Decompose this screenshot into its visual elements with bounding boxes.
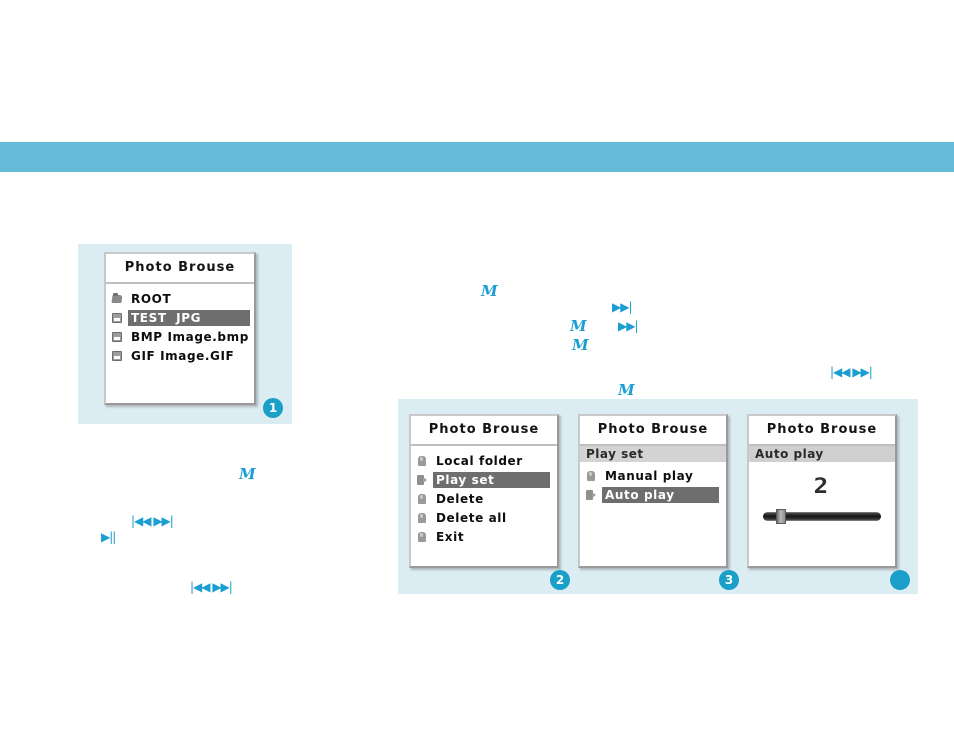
section-header: Play set <box>580 446 726 462</box>
screen-title: Photo Brouse <box>106 254 254 284</box>
prevnext-icon: |◀◀ ▶▶| <box>830 366 872 378</box>
menu-item-delete[interactable]: Delete <box>411 489 557 508</box>
menu-m-icon: M <box>239 467 256 482</box>
list-item-label: TEST JPG <box>128 310 250 326</box>
menu-item-label: Manual play <box>602 468 697 484</box>
bullet-icon <box>417 493 428 505</box>
section-header: Auto play <box>749 446 895 462</box>
step-badge-1: 1 <box>263 398 283 418</box>
menu-item-label: Delete <box>433 491 488 507</box>
menu-item-manual-play[interactable]: Manual play <box>580 466 726 485</box>
screen-body: Auto play 2 <box>749 446 895 566</box>
playpause-icon: ▶|| <box>101 531 115 543</box>
list-item-label: BMP Image.bmp <box>128 329 253 345</box>
device-screen-autoplay: Photo Brouse Auto play 2 <box>747 414 897 568</box>
list-item[interactable]: GIF Image.GIF <box>106 346 254 365</box>
prevnext-icon: |◀◀ ▶▶| <box>131 515 173 527</box>
list-item-label: GIF Image.GIF <box>128 348 238 364</box>
file-icon <box>112 350 123 362</box>
menu-item-label: Exit <box>433 529 468 545</box>
menu-item-delete-all[interactable]: Delete all <box>411 508 557 527</box>
bullet-icon <box>417 512 428 524</box>
bullet-icon <box>417 455 428 467</box>
menu-item-label: Delete all <box>433 510 511 526</box>
arrow-icon <box>417 474 428 486</box>
screen-body: ROOT TEST JPG BMP Image.bmp GIF Image.GI… <box>106 284 254 403</box>
screen-title: Photo Brouse <box>580 416 726 446</box>
menu-item-play-set[interactable]: Play set <box>411 470 557 489</box>
menu-item-exit[interactable]: Exit <box>411 527 557 546</box>
device-screen-filelist: Photo Brouse ROOT TEST JPG BMP Image.bmp… <box>104 252 256 405</box>
list-item[interactable]: BMP Image.bmp <box>106 327 254 346</box>
screen-body: Play set Manual play Auto play <box>580 446 726 566</box>
list-item[interactable]: ROOT <box>106 289 254 308</box>
interval-slider[interactable] <box>763 509 881 523</box>
folder-icon <box>112 293 123 305</box>
screen-title: Photo Brouse <box>411 416 557 446</box>
list-item[interactable]: TEST JPG <box>106 308 254 327</box>
menu-item-auto-play[interactable]: Auto play <box>580 485 726 504</box>
file-icon <box>112 312 123 324</box>
menu-item-label: Auto play <box>602 487 719 503</box>
menu-item-label: Play set <box>433 472 550 488</box>
device-screen-playset: Photo Brouse Play set Manual play Auto p… <box>578 414 728 568</box>
menu-m-icon: M <box>572 338 589 353</box>
bullet-icon <box>417 531 428 543</box>
interval-value: 2 <box>738 474 906 498</box>
device-screen-menu: Photo Brouse Local folder Play set Delet… <box>409 414 559 568</box>
menu-m-icon: M <box>570 319 587 334</box>
menu-item-local-folder[interactable]: Local folder <box>411 451 557 470</box>
file-icon <box>112 331 123 343</box>
screen-title: Photo Brouse <box>749 416 895 446</box>
arrow-icon <box>586 489 597 501</box>
step-badge-3: 3 <box>719 570 739 590</box>
prevnext-icon: |◀◀ ▶▶| <box>190 581 232 593</box>
step-badge-4 <box>890 570 910 590</box>
slider-thumb[interactable] <box>776 509 786 524</box>
list-item-label: ROOT <box>128 291 175 307</box>
next-icon: ▶▶| <box>618 320 638 332</box>
menu-item-label: Local folder <box>433 453 527 469</box>
step-badge-2: 2 <box>550 570 570 590</box>
menu-m-icon: M <box>618 383 635 398</box>
menu-m-icon: M <box>481 284 498 299</box>
header-band <box>0 142 954 172</box>
next-icon: ▶▶| <box>612 301 632 313</box>
screen-body: Local folder Play set Delete Delete all … <box>411 446 557 566</box>
bullet-icon <box>586 470 597 482</box>
